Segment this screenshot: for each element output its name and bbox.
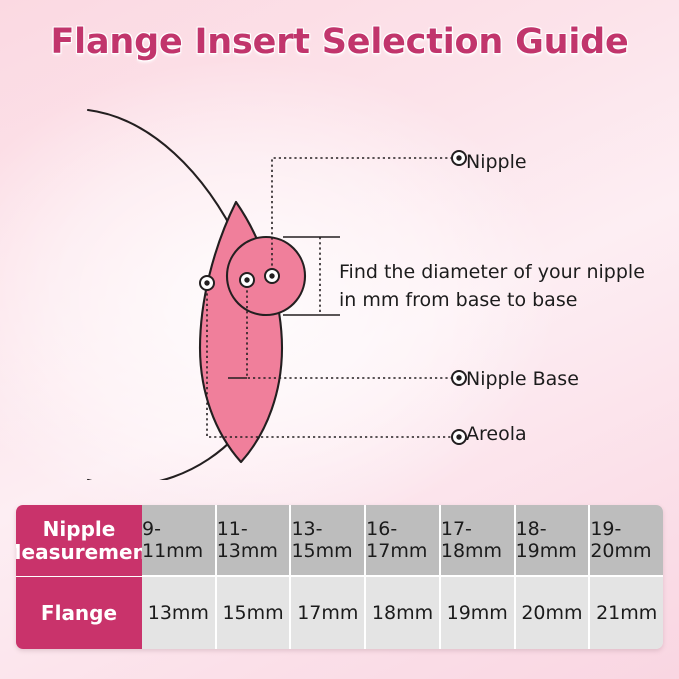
- instruction-line-1: Find the diameter of your nipple: [339, 259, 669, 287]
- bullseye-icon-areola-point: [200, 276, 214, 290]
- flange-size-table: Nipple Measurement 9-11mm 11-13mm 13-15m…: [16, 505, 663, 649]
- cell-flange-7: 21mm: [590, 577, 663, 649]
- cell-measurement-3: 13-15mm: [291, 505, 366, 577]
- row-header-line-1: Nipple: [43, 517, 116, 541]
- cell-flange-1: 13mm: [142, 577, 217, 649]
- cell-measurement-6: 18-19mm: [516, 505, 591, 577]
- table-row: Flange 13mm 15mm 17mm 18mm 19mm 20mm 21m…: [16, 577, 663, 649]
- callout-label-nipple-base: Nipple Base: [466, 370, 579, 389]
- row-header-nipple-measurement: Nipple Measurement: [16, 505, 142, 577]
- row-header-line-1: Flange: [41, 602, 117, 624]
- row-header-line-2: Measurement: [16, 540, 156, 564]
- callout-label-nipple: Nipple: [466, 153, 527, 172]
- page-title: Flange Insert Selection Guide: [0, 22, 679, 62]
- table-row: Nipple Measurement 9-11mm 11-13mm 13-15m…: [16, 505, 663, 577]
- cell-measurement-1: 9-11mm: [142, 505, 217, 577]
- row-header-flange: Flange: [16, 577, 142, 649]
- cell-measurement-2: 11-13mm: [217, 505, 292, 577]
- bullseye-icon-nipple-base-point: [240, 273, 254, 287]
- cell-measurement-4: 16-17mm: [366, 505, 441, 577]
- cell-flange-5: 19mm: [441, 577, 516, 649]
- cell-measurement-7: 19-20mm: [590, 505, 663, 577]
- infographic-page: Flange Insert Selection Guide: [0, 0, 679, 679]
- cell-measurement-5: 17-18mm: [441, 505, 516, 577]
- instruction-text: Find the diameter of your nipple in mm f…: [339, 259, 669, 314]
- bullseye-icon-label-areola: [452, 430, 466, 444]
- callout-label-areola: Areola: [466, 425, 527, 444]
- instruction-line-2: in mm from base to base: [339, 287, 669, 315]
- cell-flange-3: 17mm: [291, 577, 366, 649]
- bullseye-icon-nipple-point: [265, 269, 279, 283]
- cell-flange-2: 15mm: [217, 577, 292, 649]
- cell-flange-6: 20mm: [516, 577, 591, 649]
- bullseye-icon-label-nipple-base: [452, 371, 466, 385]
- bullseye-icon-label-nipple: [452, 151, 466, 165]
- cell-flange-4: 18mm: [366, 577, 441, 649]
